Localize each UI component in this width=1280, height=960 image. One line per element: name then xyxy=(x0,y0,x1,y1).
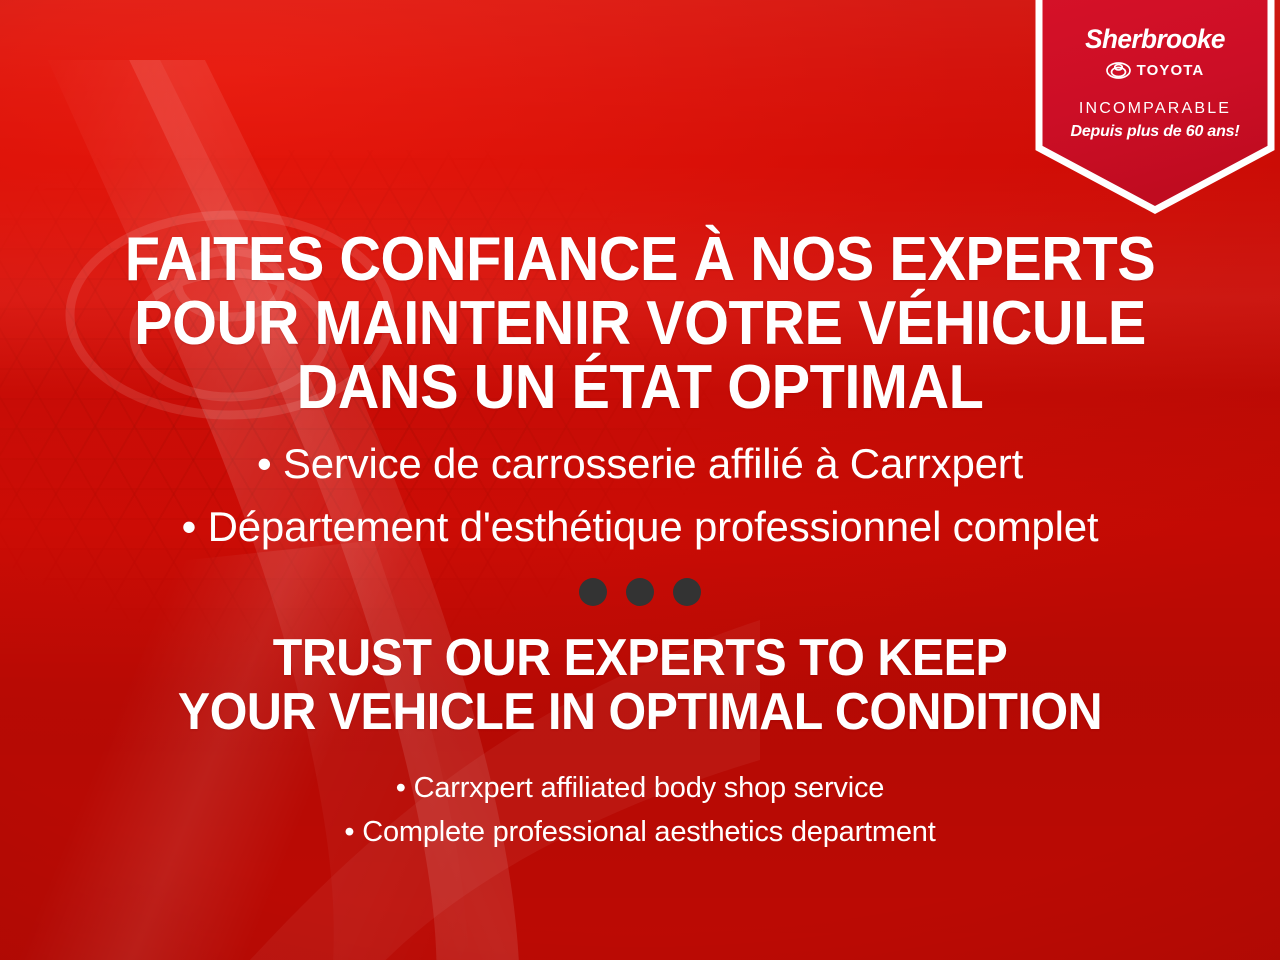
badge-brand-lockup: TOYOTA xyxy=(1030,62,1280,79)
bullets-french: • Service de carrosserie affilié à Carrx… xyxy=(0,432,1280,558)
bullet-french-2: • Département d'esthétique professionnel… xyxy=(0,495,1280,558)
headline-french-line-3: DANS UN ÉTAT OPTIMAL xyxy=(45,356,1235,420)
toyota-emblem-icon xyxy=(1106,62,1131,79)
headline-french-line-1: FAITES CONFIANCE À NOS EXPERTS xyxy=(45,228,1235,292)
bullet-french-1: • Service de carrosserie affilié à Carrx… xyxy=(0,432,1280,495)
bullets-english: • Carrxpert affiliated body shop service… xyxy=(0,766,1280,855)
bullet-english-1: • Carrxpert affiliated body shop service xyxy=(0,766,1280,810)
bullet-english-2: • Complete professional aesthetics depar… xyxy=(0,810,1280,854)
divider-dot xyxy=(579,578,607,606)
badge-content: Sherbrooke TOYOTA INCOMPARABLE Depuis pl… xyxy=(1030,0,1280,140)
badge-brand-name: TOYOTA xyxy=(1137,63,1205,78)
dot-divider xyxy=(0,578,1280,606)
headline-english: TRUST OUR EXPERTS TO KEEP YOUR VEHICLE I… xyxy=(45,632,1235,740)
promotional-banner: Sherbrooke TOYOTA INCOMPARABLE Depuis pl… xyxy=(0,0,1280,960)
headline-french: FAITES CONFIANCE À NOS EXPERTS POUR MAIN… xyxy=(45,228,1235,420)
badge-dealer-name: Sherbrooke xyxy=(1034,26,1277,53)
badge-tagline: INCOMPARABLE xyxy=(1030,101,1280,117)
divider-dot xyxy=(673,578,701,606)
divider-dot xyxy=(626,578,654,606)
badge-subtagline: Depuis plus de 60 ans! xyxy=(1030,124,1280,140)
headline-english-line-1: TRUST OUR EXPERTS TO KEEP xyxy=(45,632,1235,686)
headline-french-line-2: POUR MAINTENIR VOTRE VÉHICULE xyxy=(45,292,1235,356)
headline-english-line-2: YOUR VEHICLE IN OPTIMAL CONDITION xyxy=(45,686,1235,740)
dealer-badge: Sherbrooke TOYOTA INCOMPARABLE Depuis pl… xyxy=(1030,0,1280,214)
